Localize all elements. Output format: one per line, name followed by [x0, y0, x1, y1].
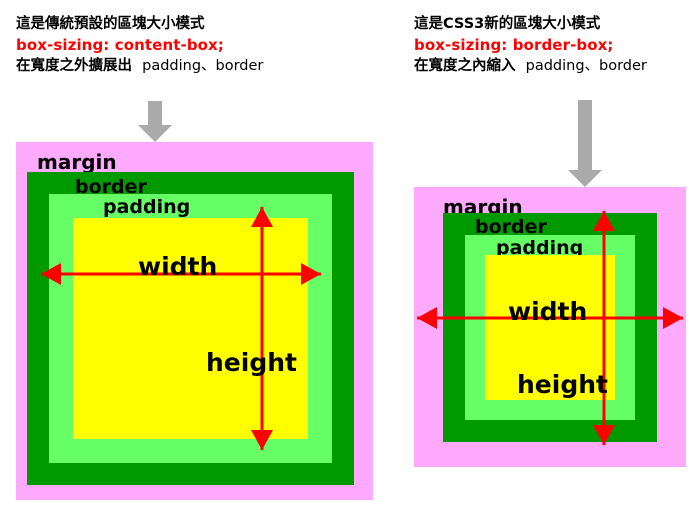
border-box-caption: 這是CSS3新的區塊大小模式 box-sizing: border-box; 在… — [414, 14, 647, 77]
caption-line-3-prefix: 在寬度之外擴展出 — [16, 58, 132, 74]
arrow-down-grey-icon — [568, 100, 602, 187]
height-label: height — [517, 372, 608, 397]
width-label: width — [138, 254, 217, 279]
caption-line-1: 這是傳統預設的區塊大小模式 — [16, 14, 263, 35]
caption-line-3-suffix: padding、border — [526, 58, 647, 74]
height-label: height — [206, 350, 297, 375]
padding-label: padding — [103, 198, 190, 217]
margin-label: margin — [37, 152, 117, 172]
arrow-down-grey-icon — [138, 101, 172, 142]
caption-line-3-suffix: padding、border — [142, 58, 263, 74]
caption-line-2-code: box-sizing: content-box; — [16, 35, 263, 56]
content-box-diagram: margin border padding width height — [16, 142, 373, 500]
content-box-panel: 這是傳統預設的區塊大小模式 box-sizing: content-box; 在… — [0, 0, 400, 514]
caption-line-3: 在寬度之外擴展出 padding、border — [16, 56, 263, 77]
border-box-panel: 這是CSS3新的區塊大小模式 box-sizing: border-box; 在… — [400, 0, 700, 514]
caption-line-2-code: box-sizing: border-box; — [414, 35, 647, 56]
width-label: width — [508, 299, 587, 324]
height-measure-arrow — [250, 207, 274, 450]
content-box-caption: 這是傳統預設的區塊大小模式 box-sizing: content-box; 在… — [16, 14, 263, 77]
caption-line-1: 這是CSS3新的區塊大小模式 — [414, 14, 647, 35]
border-box-diagram: margin border padding width height — [414, 187, 686, 467]
height-measure-arrow — [592, 211, 616, 445]
caption-line-3-prefix: 在寬度之內縮入 — [414, 58, 516, 74]
caption-line-3: 在寬度之內縮入 padding、border — [414, 56, 647, 77]
